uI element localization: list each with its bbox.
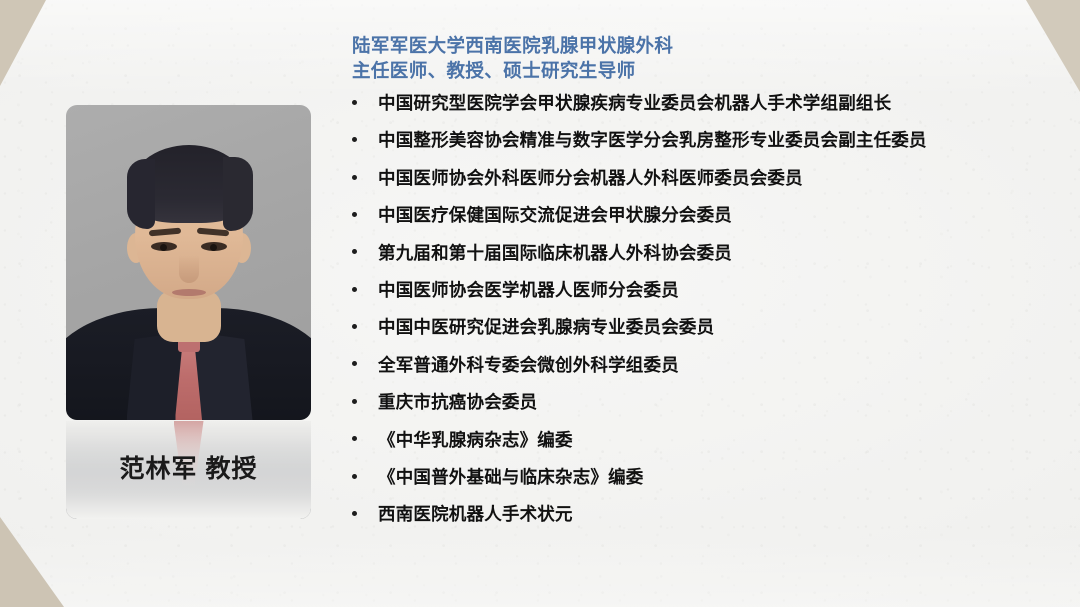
bullet-dot-icon (352, 467, 378, 487)
list-item-label: 中国医师协会外科医师分会机器人外科医师委员会委员 (378, 165, 803, 190)
bullet-dot-icon (352, 392, 378, 412)
bullet-dot-icon (352, 205, 378, 225)
list-item-label: 中国医师协会医学机器人医师分会委员 (378, 277, 679, 302)
list-item-label: 第九届和第十届国际临床机器人外科协会委员 (378, 240, 732, 265)
list-item: 中国医师协会医学机器人医师分会委员 (352, 277, 1052, 314)
list-item-label: 《中国普外基础与临床杂志》编委 (378, 464, 644, 489)
bullet-dot-icon (352, 355, 378, 375)
profile-text-column: 陆军军医大学西南医院乳腺甲状腺外科 主任医师、教授、硕士研究生导师 中国研究型医… (352, 33, 1052, 539)
list-item-label: 重庆市抗癌协会委员 (378, 389, 537, 414)
credentials-list: 中国研究型医院学会甲状腺疾病专业委员会机器人手术学组副组长 中国整形美容协会精准… (352, 90, 1052, 539)
profile-name-caption: 范林军 教授 (66, 449, 311, 485)
portrait-lapel-left (127, 332, 185, 420)
bullet-dot-icon (352, 168, 378, 188)
presentation-slide: 范林军 教授 陆军军医大学西南医院乳腺甲状腺外科 主任医师、教授、硕士研究生导师… (0, 0, 1080, 607)
bullet-dot-icon (352, 93, 378, 113)
portrait-pupil-left (160, 244, 167, 251)
bullet-dot-icon (352, 280, 378, 300)
list-item: 第九届和第十届国际临床机器人外科协会委员 (352, 240, 1052, 277)
list-item: 西南医院机器人手术状元 (352, 501, 1052, 538)
heading-line-2: 主任医师、教授、硕士研究生导师 (352, 58, 1052, 83)
portrait-hair-left-side (127, 159, 155, 229)
portrait-hair-right-side (223, 157, 253, 231)
list-item: 《中国普外基础与临床杂志》编委 (352, 464, 1052, 501)
bullet-dot-icon (352, 430, 378, 450)
heading-line-1: 陆军军医大学西南医院乳腺甲状腺外科 (352, 33, 1052, 58)
portrait-lapel-right (195, 332, 253, 420)
list-item-label: 中国医疗保健国际交流促进会甲状腺分会委员 (378, 202, 732, 227)
portrait-reflection: 范林军 教授 (66, 421, 311, 519)
corner-triangle-bottom-left-icon (0, 517, 64, 607)
list-item-label: 《中华乳腺病杂志》编委 (378, 427, 573, 452)
bullet-dot-icon (352, 504, 378, 524)
list-item: 中国医师协会外科医师分会机器人外科医师委员会委员 (352, 165, 1052, 202)
list-item: 中国医疗保健国际交流促进会甲状腺分会委员 (352, 202, 1052, 239)
portrait-photo (66, 105, 311, 420)
list-item: 中国研究型医院学会甲状腺疾病专业委员会机器人手术学组副组长 (352, 90, 1052, 127)
bullet-dot-icon (352, 317, 378, 337)
list-item-label: 中国整形美容协会精准与数字医学分会乳房整形专业委员会副主任委员 (378, 127, 927, 152)
list-item: 中国整形美容协会精准与数字医学分会乳房整形专业委员会副主任委员 (352, 127, 1052, 164)
list-item-label: 西南医院机器人手术状元 (378, 501, 573, 526)
list-item: 《中华乳腺病杂志》编委 (352, 427, 1052, 464)
list-item: 全军普通外科专委会微创外科学组委员 (352, 352, 1052, 389)
list-item: 重庆市抗癌协会委员 (352, 389, 1052, 426)
profile-photo-block: 范林军 教授 (66, 105, 311, 519)
list-item-label: 全军普通外科专委会微创外科学组委员 (378, 352, 679, 377)
corner-triangle-top-left-icon (0, 0, 46, 86)
portrait-nose (179, 255, 199, 283)
bullet-dot-icon (352, 130, 378, 150)
list-item-label: 中国研究型医院学会甲状腺疾病专业委员会机器人手术学组副组长 (378, 90, 891, 115)
portrait-mouth (172, 289, 206, 296)
list-item: 中国中医研究促进会乳腺病专业委员会委员 (352, 314, 1052, 351)
list-item-label: 中国中医研究促进会乳腺病专业委员会委员 (378, 314, 714, 339)
bullet-dot-icon (352, 243, 378, 263)
portrait-pupil-right (210, 244, 217, 251)
